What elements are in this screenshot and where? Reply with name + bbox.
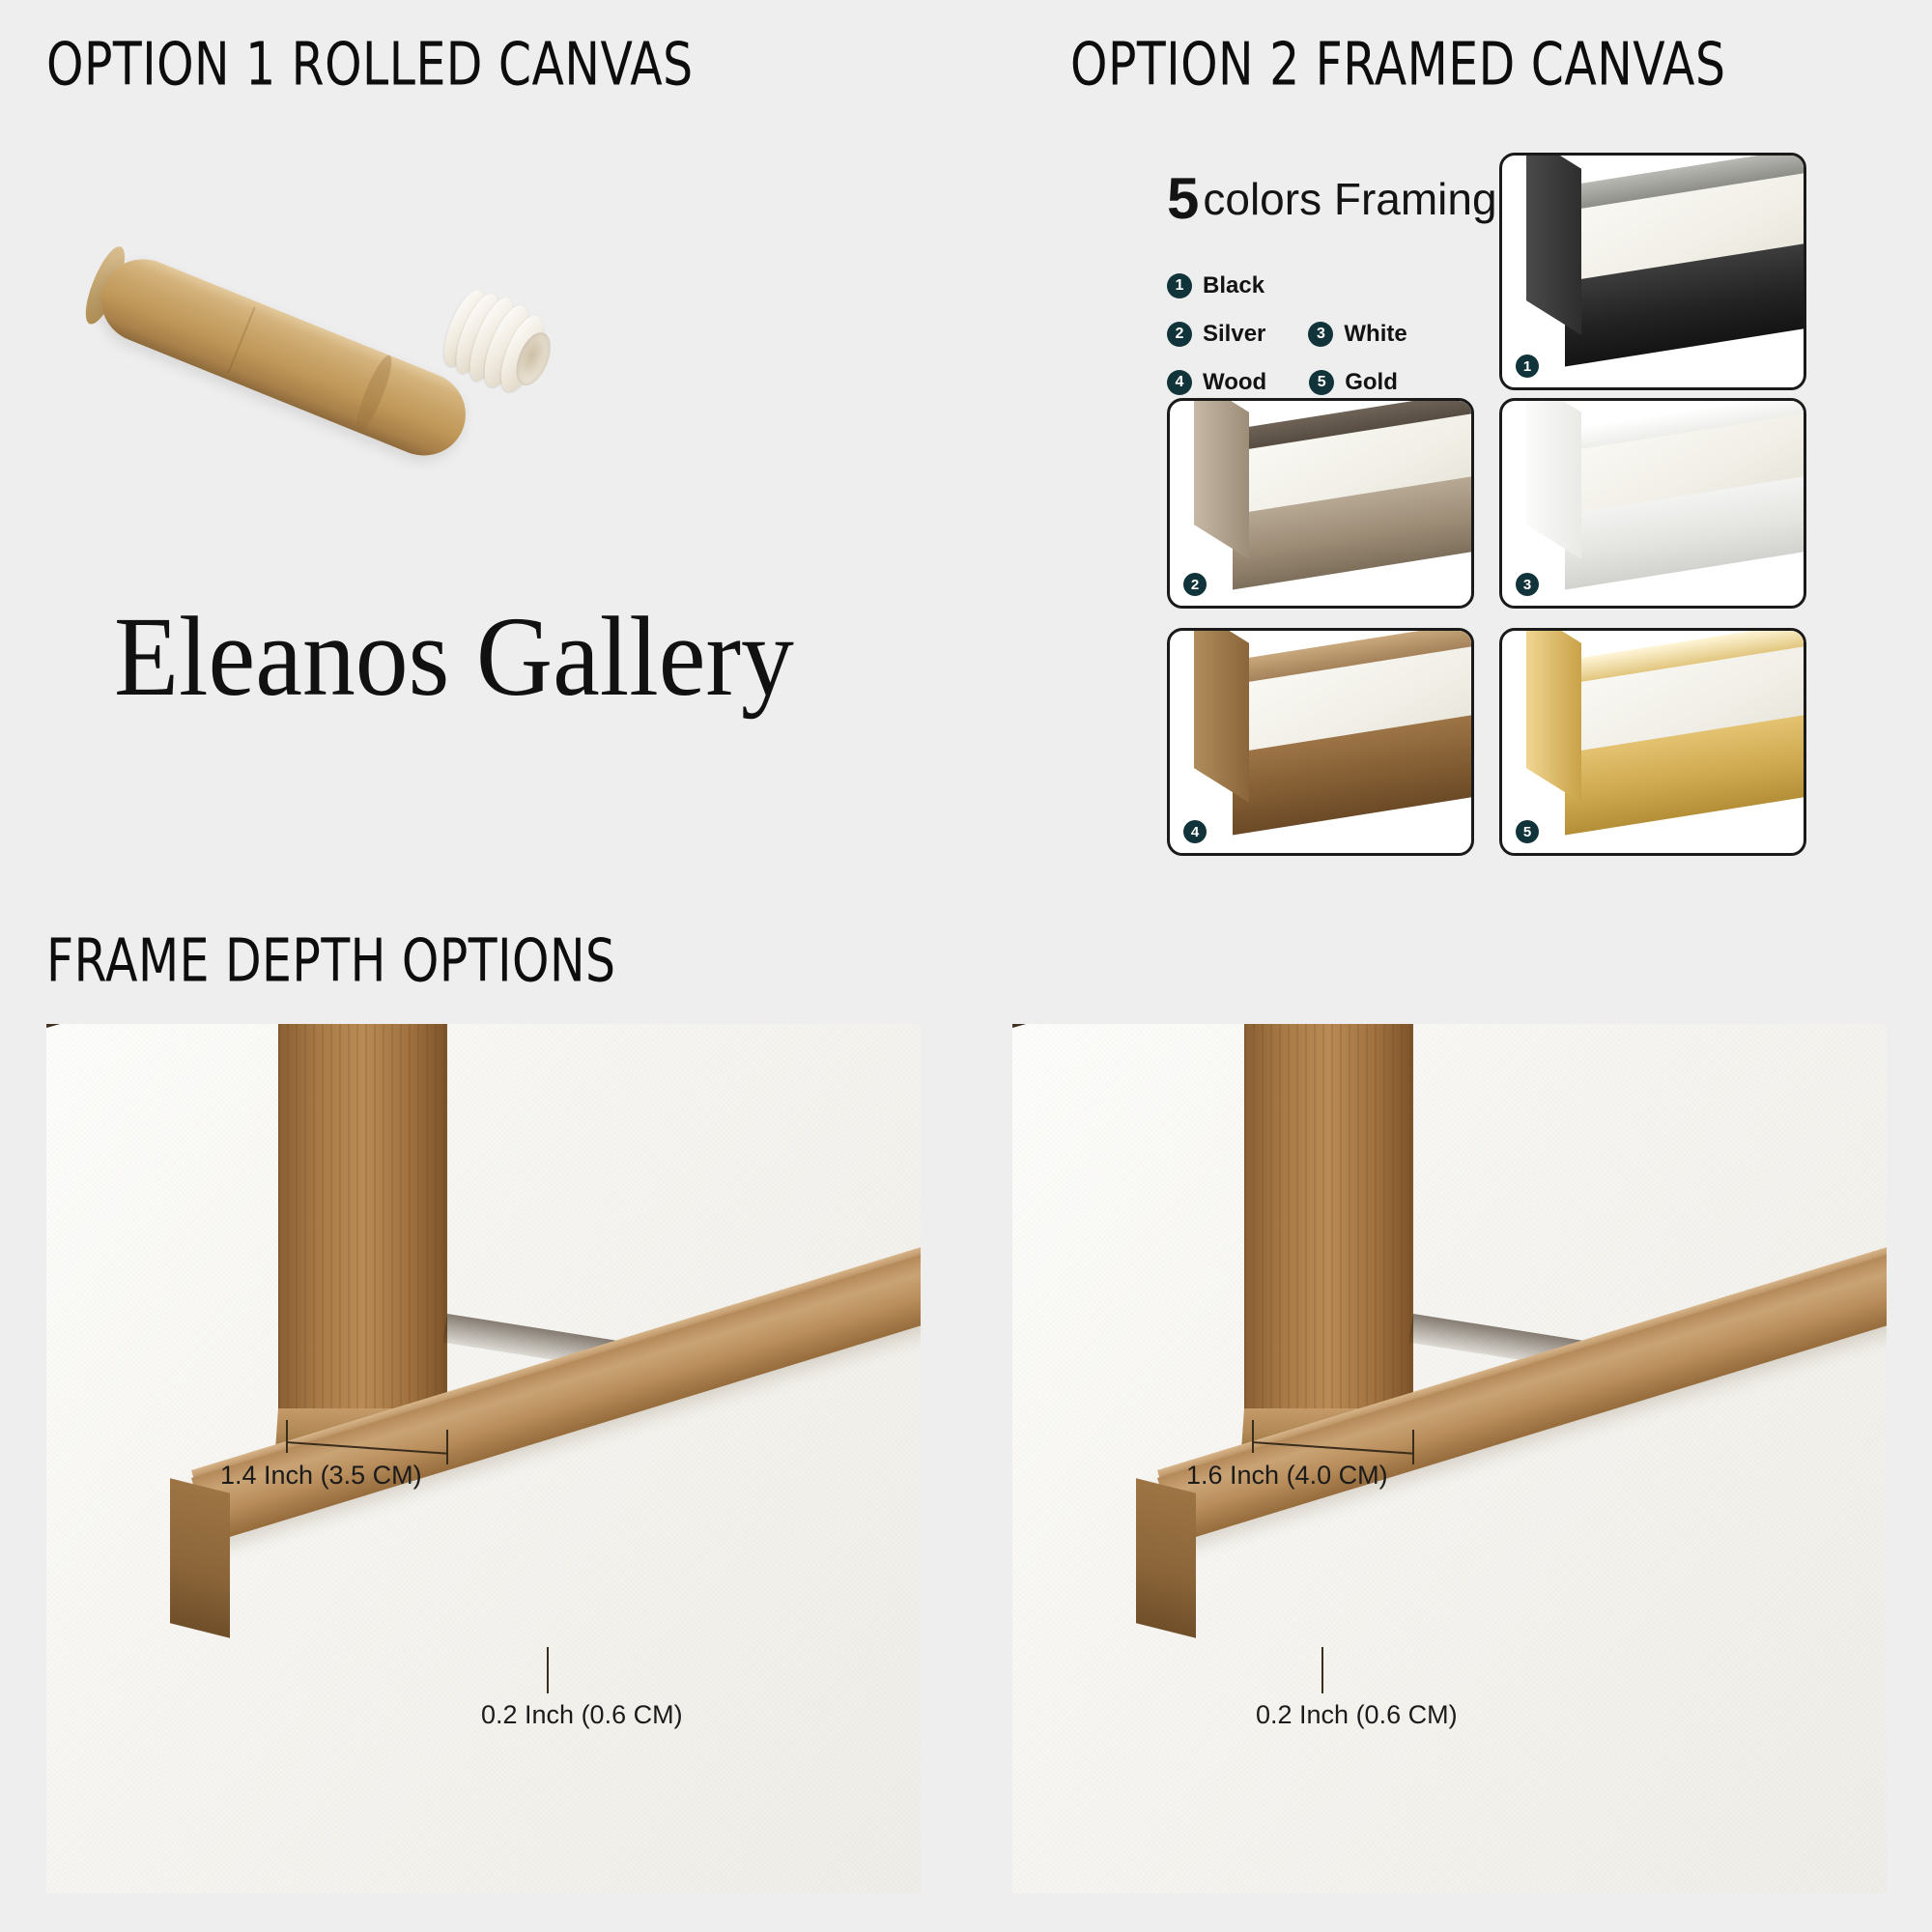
frame-corner-photo bbox=[1526, 639, 1804, 844]
tile-number-badge: 4 bbox=[1183, 820, 1207, 843]
mailing-tube bbox=[89, 246, 478, 469]
frame-depth-heading: FRAME DEPTH OPTIONS bbox=[46, 927, 616, 996]
option2-heading: OPTION 2 FRAMED CANVAS bbox=[1070, 31, 1725, 99]
frame-side-return bbox=[1194, 628, 1249, 803]
frame-corner-photo bbox=[1194, 409, 1471, 597]
number-badge-1: 1 bbox=[1167, 273, 1192, 298]
frame-corner-photo bbox=[1526, 165, 1804, 379]
framing-color-label: Black bbox=[1203, 272, 1264, 299]
framing-color-row: 2 Silver 3 White bbox=[1167, 321, 1495, 348]
framing-count: 5 bbox=[1167, 166, 1199, 231]
tile-number-badge: 1 bbox=[1516, 355, 1539, 378]
frame-side-return bbox=[1526, 153, 1581, 335]
framing-color-row: 1 Black bbox=[1167, 272, 1495, 299]
width-dimension-tick-right bbox=[1412, 1430, 1414, 1464]
framing-color-label: Silver bbox=[1203, 321, 1265, 348]
frame-width-label: 1.4 Inch (3.5 CM) bbox=[220, 1461, 422, 1491]
framing-title: 5colors Framing bbox=[1167, 170, 1495, 228]
framing-title-rest: colors Framing bbox=[1203, 174, 1496, 224]
tile-number-badge: 2 bbox=[1183, 573, 1207, 596]
frame-vertical-stile bbox=[278, 1024, 447, 1410]
frame-rail-end-cap bbox=[1136, 1478, 1196, 1637]
framing-color-row: 4 Wood 5 Gold bbox=[1167, 369, 1495, 396]
width-dimension-tick-right bbox=[446, 1430, 448, 1464]
number-badge-5: 5 bbox=[1309, 370, 1334, 395]
tile-number-badge: 5 bbox=[1516, 820, 1539, 843]
framing-color-silver[interactable]: 2 Silver bbox=[1167, 321, 1265, 348]
number-badge-3: 3 bbox=[1308, 322, 1333, 347]
framing-color-label: Wood bbox=[1203, 369, 1266, 396]
rolled-canvas-illustration bbox=[87, 155, 599, 464]
tile-number-badge: 3 bbox=[1516, 573, 1539, 596]
framing-color-white[interactable]: 3 White bbox=[1308, 321, 1406, 348]
framing-color-label: White bbox=[1344, 321, 1406, 348]
frame-side-return bbox=[1526, 628, 1581, 803]
frame-side-return bbox=[1526, 398, 1581, 559]
depth-option-1-photo: 1.4 Inch (3.5 CM) 0.2 Inch (0.6 CM) bbox=[46, 1024, 921, 1893]
framing-color-gold[interactable]: 5 Gold bbox=[1309, 369, 1398, 396]
framing-color-black[interactable]: 1 Black bbox=[1167, 272, 1264, 299]
black-frame-swatch[interactable]: 1 bbox=[1499, 153, 1806, 390]
frame-corner-photo bbox=[1194, 639, 1471, 844]
frame-side-return bbox=[1194, 398, 1249, 559]
framing-color-list: 1 Black 2 Silver 3 White 4 Wood 5 Gold bbox=[1167, 272, 1495, 396]
brand-wordmark: Eleanos Gallery bbox=[114, 591, 794, 723]
gold-frame-swatch[interactable]: 5 bbox=[1499, 628, 1806, 856]
frame-thickness-label: 0.2 Inch (0.6 CM) bbox=[1256, 1700, 1458, 1730]
option1-heading: OPTION 1 ROLLED CANVAS bbox=[46, 31, 694, 99]
white-frame-swatch[interactable]: 3 bbox=[1499, 398, 1806, 609]
width-dimension-tick-left bbox=[286, 1420, 288, 1453]
framing-color-wood[interactable]: 4 Wood bbox=[1167, 369, 1266, 396]
width-dimension-tick-left bbox=[1252, 1420, 1254, 1453]
number-badge-2: 2 bbox=[1167, 322, 1192, 347]
framing-colors-legend: 5colors Framing 1 Black 2 Silver 3 White… bbox=[1167, 170, 1495, 417]
depth-option-2-photo: 1.6 Inch (4.0 CM) 0.2 Inch (0.6 CM) bbox=[1012, 1024, 1887, 1893]
frame-vertical-stile bbox=[1244, 1024, 1413, 1410]
frame-thickness-label: 0.2 Inch (0.6 CM) bbox=[481, 1700, 683, 1730]
wood-frame-swatch[interactable]: 4 bbox=[1167, 628, 1474, 856]
number-badge-4: 4 bbox=[1167, 370, 1192, 395]
frame-corner-photo bbox=[1526, 409, 1804, 597]
framing-color-label: Gold bbox=[1345, 369, 1398, 396]
frame-rail-end-cap bbox=[170, 1478, 230, 1637]
frame-width-label: 1.6 Inch (4.0 CM) bbox=[1186, 1461, 1388, 1491]
silver-frame-swatch[interactable]: 2 bbox=[1167, 398, 1474, 609]
thickness-dimension-line bbox=[1321, 1647, 1323, 1693]
thickness-dimension-line bbox=[547, 1647, 549, 1693]
